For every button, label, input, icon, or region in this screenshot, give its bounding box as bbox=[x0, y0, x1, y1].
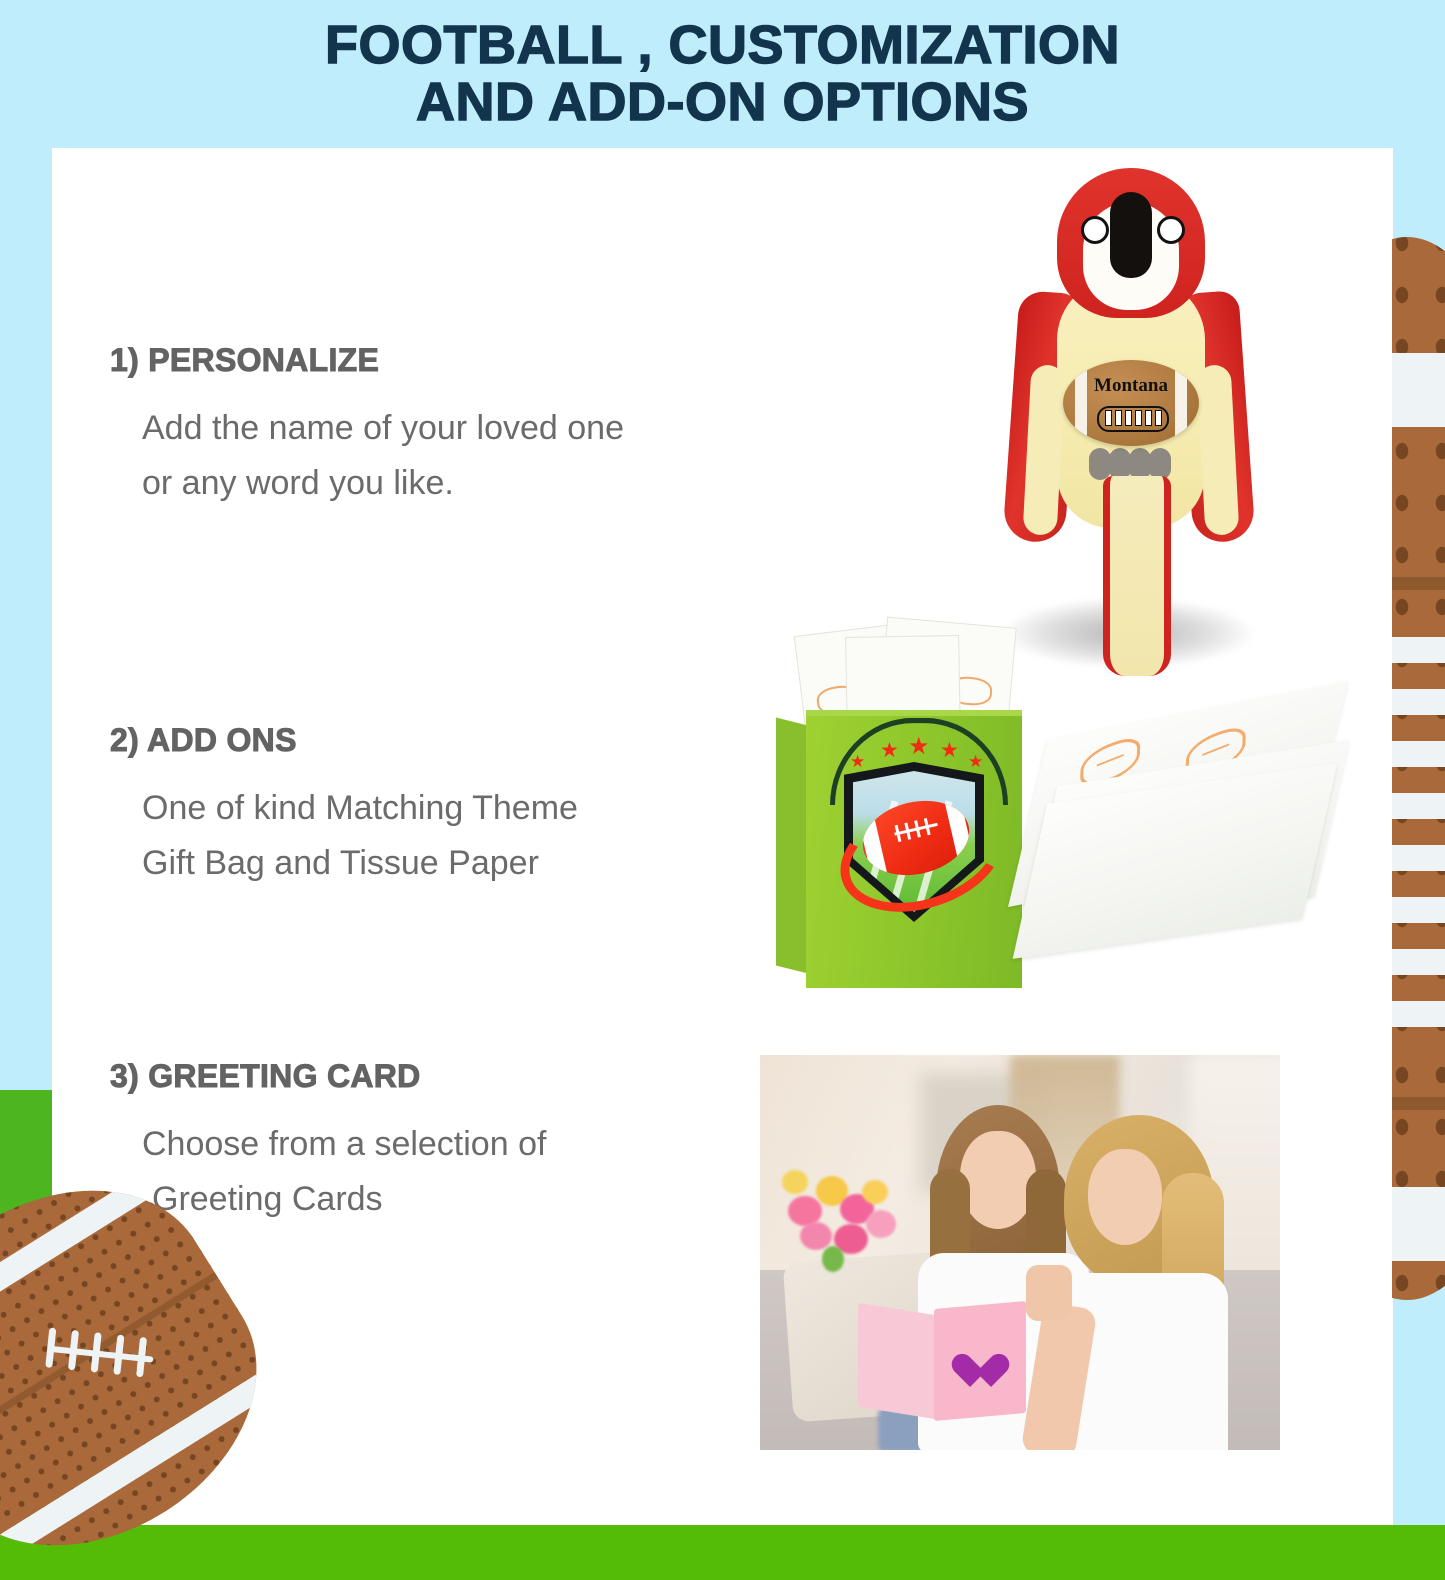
heart-icon bbox=[970, 1355, 1008, 1389]
football-stripe bbox=[1075, 360, 1087, 446]
infographic-canvas: FOOTBALL , CUSTOMIZATION AND ADD-ON OPTI… bbox=[0, 0, 1445, 1580]
mother-face bbox=[1088, 1149, 1162, 1245]
edge-football-body bbox=[1392, 237, 1445, 1300]
photo-mother bbox=[1050, 1115, 1230, 1450]
page-title-line-1: FOOTBALL , CUSTOMIZATION bbox=[325, 15, 1120, 75]
gift-bag-image: ★ ★ ★ ★ ★ bbox=[772, 622, 1042, 1002]
parrot-eye-right bbox=[1157, 216, 1185, 244]
parrot-tail bbox=[1103, 476, 1171, 676]
football-lace bbox=[1392, 689, 1445, 715]
step-1-body: Add the name of your loved one or any wo… bbox=[142, 401, 624, 511]
step-personalize: 1) PERSONALIZE Add the name of your love… bbox=[110, 342, 624, 511]
football-lace bbox=[1392, 845, 1445, 871]
football-lace bbox=[1392, 637, 1445, 663]
football-lace bbox=[1392, 949, 1445, 975]
parrot-beak bbox=[1110, 192, 1152, 278]
step-1-heading: 1) PERSONALIZE bbox=[110, 342, 624, 379]
step-2-body-line-2: Gift Bag and Tissue Paper bbox=[142, 836, 578, 891]
football-lace-group bbox=[1097, 406, 1169, 432]
page-title-line-2: AND ADD-ON OPTIONS bbox=[325, 74, 1120, 131]
step-3-body-line-1: Choose from a selection of bbox=[142, 1117, 546, 1172]
header-banner: FOOTBALL , CUSTOMIZATION AND ADD-ON OPTI… bbox=[0, 0, 1445, 148]
page-title: FOOTBALL , CUSTOMIZATION AND ADD-ON OPTI… bbox=[325, 17, 1120, 131]
daughter-face bbox=[960, 1131, 1036, 1229]
step-add-ons: 2) ADD ONS One of kind Matching Theme Gi… bbox=[110, 722, 578, 891]
tissue-paper-image bbox=[1022, 700, 1340, 962]
step-1-body-line-1: Add the name of your loved one bbox=[142, 401, 624, 456]
card-left-page bbox=[858, 1303, 936, 1419]
step-2-body-line-1: One of kind Matching Theme bbox=[142, 781, 578, 836]
parrot-eye-left bbox=[1081, 216, 1109, 244]
mother-hand bbox=[1026, 1265, 1072, 1321]
parrot-head-group bbox=[1057, 168, 1205, 328]
football-lace bbox=[1392, 741, 1445, 767]
football-white-stripe bbox=[1392, 353, 1445, 427]
photo-flower-bouquet bbox=[778, 1160, 918, 1270]
football-seam bbox=[1392, 1097, 1445, 1110]
football-lace bbox=[1392, 897, 1445, 923]
pink-greeting-card bbox=[858, 1305, 1028, 1415]
plush-football-patch: Montana bbox=[1063, 360, 1199, 446]
personalized-name-text: Montana bbox=[1063, 375, 1199, 397]
football-stripe bbox=[1175, 360, 1187, 446]
greeting-card-photo bbox=[760, 1055, 1280, 1450]
edge-football-decoration bbox=[1392, 237, 1445, 1300]
corner-football-decoration bbox=[0, 1188, 260, 1580]
football-lace bbox=[1392, 793, 1445, 819]
parrot-plush-image: Montana bbox=[985, 160, 1275, 680]
step-1-body-line-2: or any word you like. bbox=[142, 456, 624, 511]
step-3-heading: 3) GREETING CARD bbox=[110, 1058, 546, 1095]
step-2-heading: 2) ADD ONS bbox=[110, 722, 578, 759]
football-lace bbox=[1392, 1001, 1445, 1027]
football-seam bbox=[1392, 577, 1445, 590]
football-white-stripe bbox=[1392, 1187, 1445, 1261]
parrot-toe bbox=[1089, 448, 1111, 480]
step-2-body: One of kind Matching Theme Gift Bag and … bbox=[142, 781, 578, 891]
